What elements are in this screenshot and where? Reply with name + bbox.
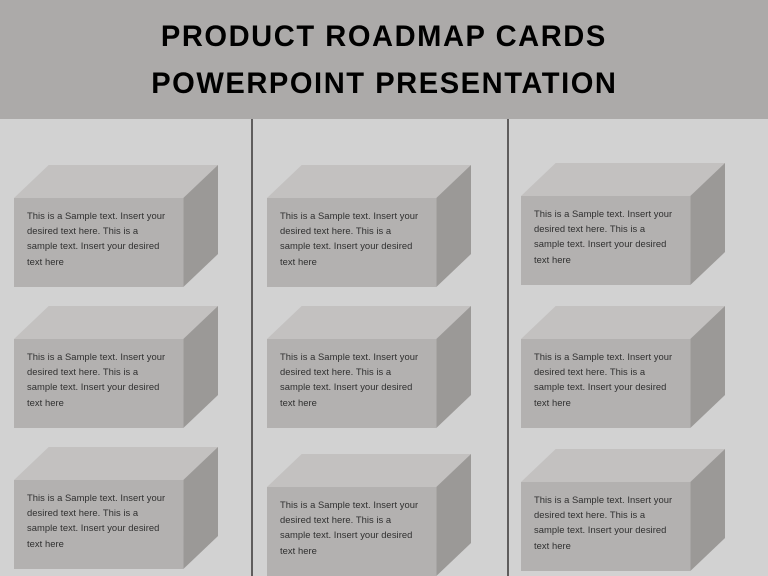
card-body-text: This is a Sample text. Insert your desir… <box>14 198 183 287</box>
roadmap-card-c2-r2[interactable]: This is a Sample text. Insert your desir… <box>267 306 471 428</box>
roadmap-card-c1-r2[interactable]: This is a Sample text. Insert your desir… <box>14 306 218 428</box>
card-body-text: This is a Sample text. Insert your desir… <box>521 339 690 428</box>
roadmap-card-c3-r1[interactable]: This is a Sample text. Insert your desir… <box>521 163 725 285</box>
card-body-text: This is a Sample text. Insert your desir… <box>267 487 436 576</box>
roadmap-card-c2-r3[interactable]: This is a Sample text. Insert your desir… <box>267 454 471 576</box>
card-body-text: This is a Sample text. Insert your desir… <box>521 196 690 285</box>
card-body-text: This is a Sample text. Insert your desir… <box>267 339 436 428</box>
roadmap-card-c1-r3[interactable]: This is a Sample text. Insert your desir… <box>14 447 218 569</box>
card-body-text: This is a Sample text. Insert your desir… <box>521 482 690 571</box>
slide-canvas: PRODUCT ROADMAP CARDS POWERPOINT PRESENT… <box>0 0 768 576</box>
card-body-text: This is a Sample text. Insert your desir… <box>14 339 183 428</box>
page-title-line-1: PRODUCT ROADMAP CARDS <box>161 13 607 60</box>
card-body-text: This is a Sample text. Insert your desir… <box>267 198 436 287</box>
roadmap-card-c1-r1[interactable]: This is a Sample text. Insert your desir… <box>14 165 218 287</box>
card-body-text: This is a Sample text. Insert your desir… <box>14 480 183 569</box>
roadmap-card-c2-r1[interactable]: This is a Sample text. Insert your desir… <box>267 165 471 287</box>
roadmap-card-c3-r3[interactable]: This is a Sample text. Insert your desir… <box>521 449 725 571</box>
slide-header: PRODUCT ROADMAP CARDS POWERPOINT PRESENT… <box>0 0 768 119</box>
roadmap-card-c3-r2[interactable]: This is a Sample text. Insert your desir… <box>521 306 725 428</box>
page-title-line-2: POWERPOINT PRESENTATION <box>151 60 617 107</box>
card-grid: This is a Sample text. Insert your desir… <box>0 119 768 576</box>
